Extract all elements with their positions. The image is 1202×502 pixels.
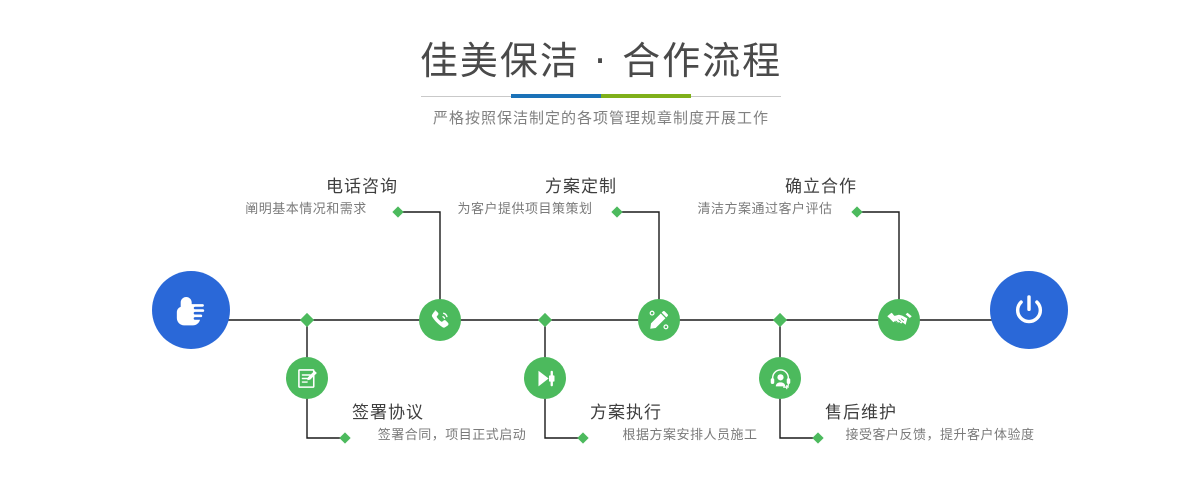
step-label-bottom-1: 签署协议 签署合同，项目正式启动	[352, 402, 552, 446]
step-node-top-2[interactable]	[638, 299, 680, 341]
handshake-icon	[886, 307, 913, 334]
step-desc: 签署合同，项目正式启动	[352, 426, 552, 446]
process-flow-diagram: 电话咨询 阐明基本情况和需求 方案定制 为客户提供项目策策划 确立合作 清洁方案…	[0, 150, 1202, 502]
step-label-bottom-2: 方案执行 根据方案安排人员施工	[590, 402, 790, 446]
step-label-top-2: 方案定制 为客户提供项目策策划	[433, 176, 617, 220]
step-node-top-1[interactable]	[419, 299, 461, 341]
pointing-hand-icon	[169, 288, 213, 332]
pencil-design-icon	[646, 307, 672, 333]
customer-service-icon	[768, 366, 793, 391]
step-desc: 清洁方案通过客户评估	[673, 200, 857, 220]
power-button-icon	[1007, 288, 1051, 332]
play-execute-icon	[533, 366, 558, 391]
step-node-bottom-3[interactable]	[759, 357, 801, 399]
label-diamond-bottom-3	[812, 432, 823, 443]
step-label-top-1: 电话咨询 阐明基本情况和需求	[214, 176, 398, 220]
step-title: 签署协议	[352, 402, 552, 424]
divider-green-segment	[601, 94, 691, 98]
step-label-bottom-3: 售后维护 接受客户反馈，提升客户体验度	[825, 402, 1055, 446]
step-node-top-3[interactable]	[878, 299, 920, 341]
step-node-bottom-1[interactable]	[286, 357, 328, 399]
timeline-diamond-5	[773, 313, 787, 327]
page-header: 佳美保洁 · 合作流程 严格按照保洁制定的各项管理规章制度开展工作	[0, 0, 1202, 150]
step-title: 确立合作	[673, 176, 857, 198]
flow-start-node[interactable]	[152, 271, 230, 349]
phone-ring-icon	[427, 307, 453, 333]
page-subtitle: 严格按照保洁制定的各项管理规章制度开展工作	[0, 107, 1202, 129]
step-desc: 根据方案安排人员施工	[590, 426, 790, 446]
label-diamond-bottom-2	[577, 432, 588, 443]
timeline-diamond-3	[538, 313, 552, 327]
step-title: 电话咨询	[214, 176, 398, 198]
divider-blue-segment	[511, 94, 601, 98]
step-title: 方案定制	[433, 176, 617, 198]
step-node-bottom-2[interactable]	[524, 357, 566, 399]
document-sign-icon	[295, 366, 320, 391]
page-title: 佳美保洁 · 合作流程	[0, 38, 1202, 84]
step-desc: 阐明基本情况和需求	[214, 200, 398, 220]
step-label-top-3: 确立合作 清洁方案通过客户评估	[673, 176, 857, 220]
step-title: 方案执行	[590, 402, 790, 424]
title-divider	[421, 94, 781, 99]
timeline-diamond-1	[300, 313, 314, 327]
step-desc: 接受客户反馈，提升客户体验度	[825, 426, 1055, 446]
label-diamond-bottom-1	[339, 432, 350, 443]
flow-end-node[interactable]	[990, 271, 1068, 349]
step-desc: 为客户提供项目策策划	[433, 200, 617, 220]
step-title: 售后维护	[825, 402, 1055, 424]
